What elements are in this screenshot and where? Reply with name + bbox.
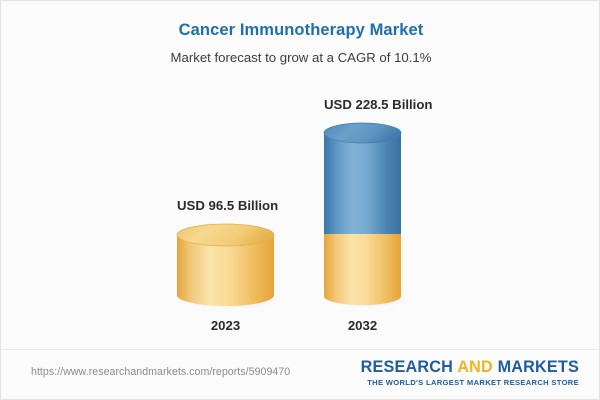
report-url-link[interactable]: https://www.researchandmarkets.com/repor… [31,366,290,378]
logo-wordmark: RESEARCH AND MARKETS [361,359,579,376]
bar-2023[interactable]: USD 96.5 Billion [177,224,274,306]
cylinder-2032 [324,123,401,306]
category-label-2032: 2032 [324,318,401,333]
bar-2032[interactable]: USD 228.5 Billion [324,123,401,306]
cylinder-2023-graphic [177,224,274,306]
category-label-2023: 2023 [177,318,274,333]
logo-word-and: AND [457,358,493,376]
infographic-card: Cancer Immunotherapy Market Market forec… [0,0,600,400]
cylinder-2023 [177,224,274,306]
logo-word-research: RESEARCH [361,358,453,376]
footer: https://www.researchandmarkets.com/repor… [1,349,600,399]
cylinder-2032-graphic [324,123,401,306]
logo-word-markets: MARKETS [498,358,579,376]
bar-value-label-2023: USD 96.5 Billion [177,198,274,213]
bar-value-label-2032: USD 228.5 Billion [324,97,401,112]
research-and-markets-logo[interactable]: RESEARCH AND MARKETS THE WORLD'S LARGEST… [361,359,579,387]
chart-plot-area: USD 96.5 Billion [1,1,600,351]
logo-tagline: THE WORLD'S LARGEST MARKET RESEARCH STOR… [361,378,579,387]
